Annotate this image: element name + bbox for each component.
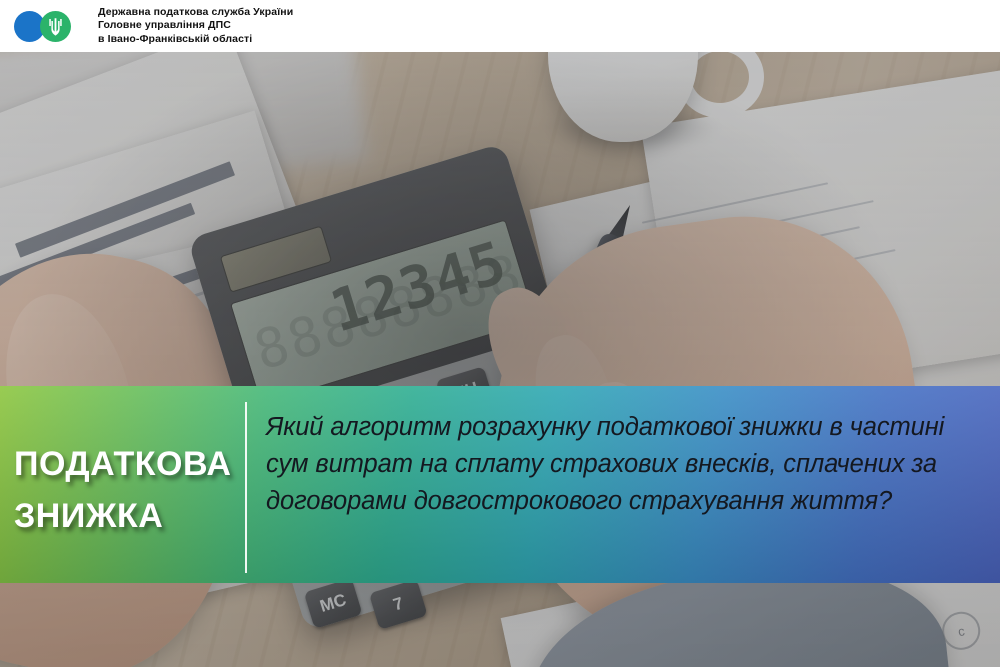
banner-title-line-2: ЗНИЖКА [14,490,234,542]
banner-title: ПОДАТКОВА ЗНИЖКА [14,438,234,542]
header-line-2: Головне управління ДПС [98,19,293,32]
banner-title-line-1: ПОДАТКОВА [14,438,234,490]
header-title-block: Державна податкова служба України Головн… [98,6,293,46]
logo-green-circle-icon [40,11,71,42]
banner-question-text: Який алгоритм розрахунку податкової зниж… [266,409,982,520]
header-line-3: в Івано-Франківській області [98,33,293,46]
ukraine-trident-icon [48,17,63,36]
gradient-banner: ПОДАТКОВА ЗНИЖКА Який алгоритм розрахунк… [0,386,1000,583]
page-header: Державна податкова служба України Головн… [0,0,1000,52]
tax-service-logo [14,8,84,44]
tax-discount-infographic: Державна податкова служба України Головн… [0,0,1000,667]
banner-vertical-divider [245,402,247,573]
header-line-1: Державна податкова служба України [98,6,293,19]
